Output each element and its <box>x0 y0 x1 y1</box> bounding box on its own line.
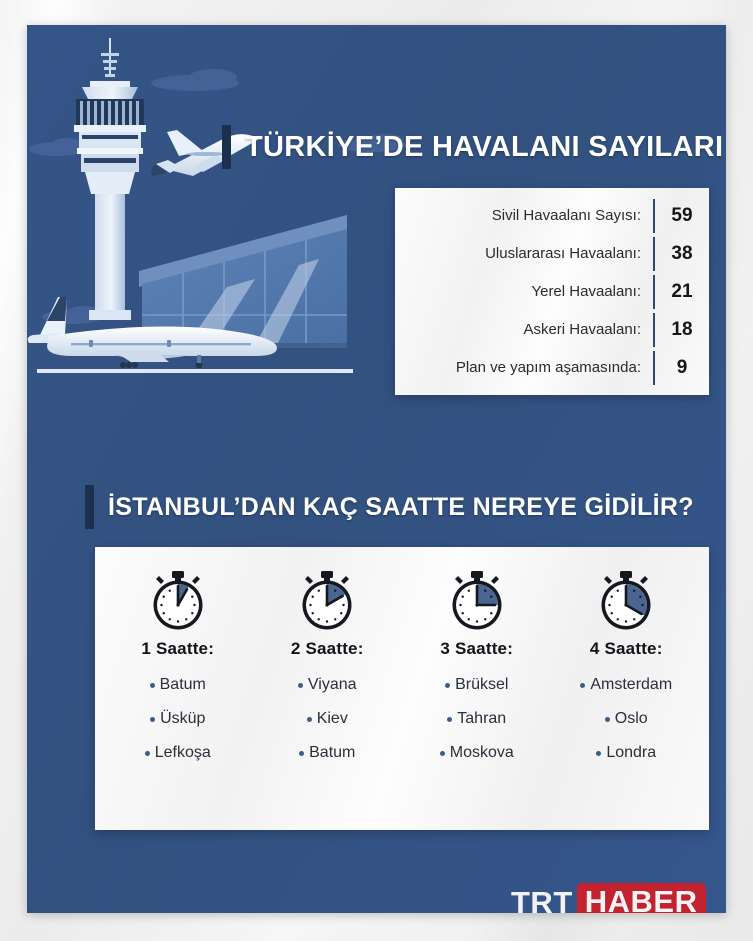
flight-time-column: 4 Saatte:AmsterdamOsloLondra <box>552 569 702 816</box>
banner-background: TÜRKİYE’DE HAVALANI SAYILARI <box>231 125 726 169</box>
city-name: Lefkoşa <box>155 744 211 762</box>
banner-flights: İSTANBUL’DAN KAÇ SAATTE NEREYE GİDİLİR? <box>85 485 710 529</box>
stat-value: 9 <box>655 357 709 379</box>
stopwatch-icon <box>596 569 656 631</box>
city-name: Brüksel <box>455 676 508 694</box>
runway-line <box>37 369 353 373</box>
stat-label: Sivil Havaalanı Sayısı: <box>395 207 653 224</box>
stat-row: Sivil Havaalanı Sayısı:59 <box>395 197 709 235</box>
stat-row: Yerel Havaalanı:21 <box>395 273 709 311</box>
city-name: Oslo <box>615 710 648 728</box>
stopwatch-icon <box>148 569 208 631</box>
city-list-item: Üsküp <box>150 710 205 728</box>
banner-accent-bar <box>222 125 231 169</box>
city-list-item: Kiev <box>307 710 348 728</box>
bullet-icon <box>145 751 150 756</box>
flight-time-column: 2 Saatte:ViyanaKievBatum <box>253 569 403 816</box>
banner-accent-bar <box>85 485 94 529</box>
city-name: Londra <box>606 744 656 762</box>
bullet-icon <box>307 717 312 722</box>
city-name: Amsterdam <box>590 676 672 694</box>
airport-stats-card: Sivil Havaalanı Sayısı:59Uluslararası Ha… <box>395 188 709 395</box>
flight-times-card: 1 Saatte:BatumÜsküpLefkoşa 2 Saatte:Viya… <box>95 547 709 830</box>
city-list-item: Londra <box>596 744 656 762</box>
stopwatch-icon <box>297 569 357 631</box>
city-list-item: Amsterdam <box>580 676 672 694</box>
city-list-item: Batum <box>299 744 355 762</box>
flight-time-column: 3 Saatte:BrükselTahranMoskova <box>402 569 552 816</box>
bullet-icon <box>150 683 155 688</box>
city-list-item: Viyana <box>298 676 357 694</box>
stat-value: 38 <box>655 243 709 265</box>
flight-time-title: 4 Saatte: <box>590 639 663 659</box>
stopwatch-icon <box>447 569 507 631</box>
city-name: Üsküp <box>160 710 205 728</box>
banner-background: İSTANBUL’DAN KAÇ SAATTE NEREYE GİDİLİR? <box>94 485 710 529</box>
flight-time-title: 3 Saatte: <box>440 639 513 659</box>
flights-title: İSTANBUL’DAN KAÇ SAATTE NEREYE GİDİLİR? <box>108 493 694 522</box>
flight-time-column: 1 Saatte:BatumÜsküpLefkoşa <box>103 569 253 816</box>
banner-airports: TÜRKİYE’DE HAVALANI SAYILARI <box>222 125 726 169</box>
city-list-item: Tahran <box>447 710 506 728</box>
flight-time-title: 1 Saatte: <box>141 639 214 659</box>
bullet-icon <box>596 751 601 756</box>
city-name: Batum <box>309 744 355 762</box>
stat-row: Uluslararası Havaalanı:38 <box>395 235 709 273</box>
stat-label: Plan ve yapım aşamasında: <box>395 359 653 376</box>
logo-haber: HABER <box>577 883 706 913</box>
stat-row: Askeri Havaalanı:18 <box>395 311 709 349</box>
airports-title: TÜRKİYE’DE HAVALANI SAYILARI <box>245 131 723 164</box>
stat-value: 59 <box>655 205 709 227</box>
city-list-item: Moskova <box>440 744 514 762</box>
control-tower-icon <box>74 38 146 320</box>
bullet-icon <box>605 717 610 722</box>
city-name: Tahran <box>457 710 506 728</box>
stat-label: Askeri Havaalanı: <box>395 321 653 338</box>
city-name: Kiev <box>317 710 348 728</box>
bullet-icon <box>445 683 450 688</box>
airport-stats-table: Sivil Havaalanı Sayısı:59Uluslararası Ha… <box>395 188 709 395</box>
stat-label: Uluslararası Havaalanı: <box>395 245 653 262</box>
city-list-item: Lefkoşa <box>145 744 211 762</box>
infographic-page: TÜRKİYE’DE HAVALANI SAYILARI Sivil Havaa… <box>0 0 753 941</box>
stat-row: Plan ve yapım aşamasında:9 <box>395 349 709 387</box>
stat-label: Yerel Havaalanı: <box>395 283 653 300</box>
city-list-item: Oslo <box>605 710 648 728</box>
city-list-item: Batum <box>150 676 206 694</box>
logo-trt: TRT <box>511 885 573 913</box>
trt-haber-logo: TRT HABER <box>511 883 706 913</box>
infographic-panel: TÜRKİYE’DE HAVALANI SAYILARI Sivil Havaa… <box>27 25 726 913</box>
city-name: Moskova <box>450 744 514 762</box>
city-name: Batum <box>160 676 206 694</box>
bullet-icon <box>440 751 445 756</box>
bullet-icon <box>150 717 155 722</box>
bullet-icon <box>580 683 585 688</box>
stat-value: 18 <box>655 319 709 341</box>
flight-time-title: 2 Saatte: <box>291 639 364 659</box>
city-list-item: Brüksel <box>445 676 508 694</box>
bullet-icon <box>298 683 303 688</box>
stat-value: 21 <box>655 281 709 303</box>
city-name: Viyana <box>308 676 357 694</box>
bullet-icon <box>447 717 452 722</box>
flight-times-grid: 1 Saatte:BatumÜsküpLefkoşa 2 Saatte:Viya… <box>95 547 709 830</box>
bullet-icon <box>299 751 304 756</box>
